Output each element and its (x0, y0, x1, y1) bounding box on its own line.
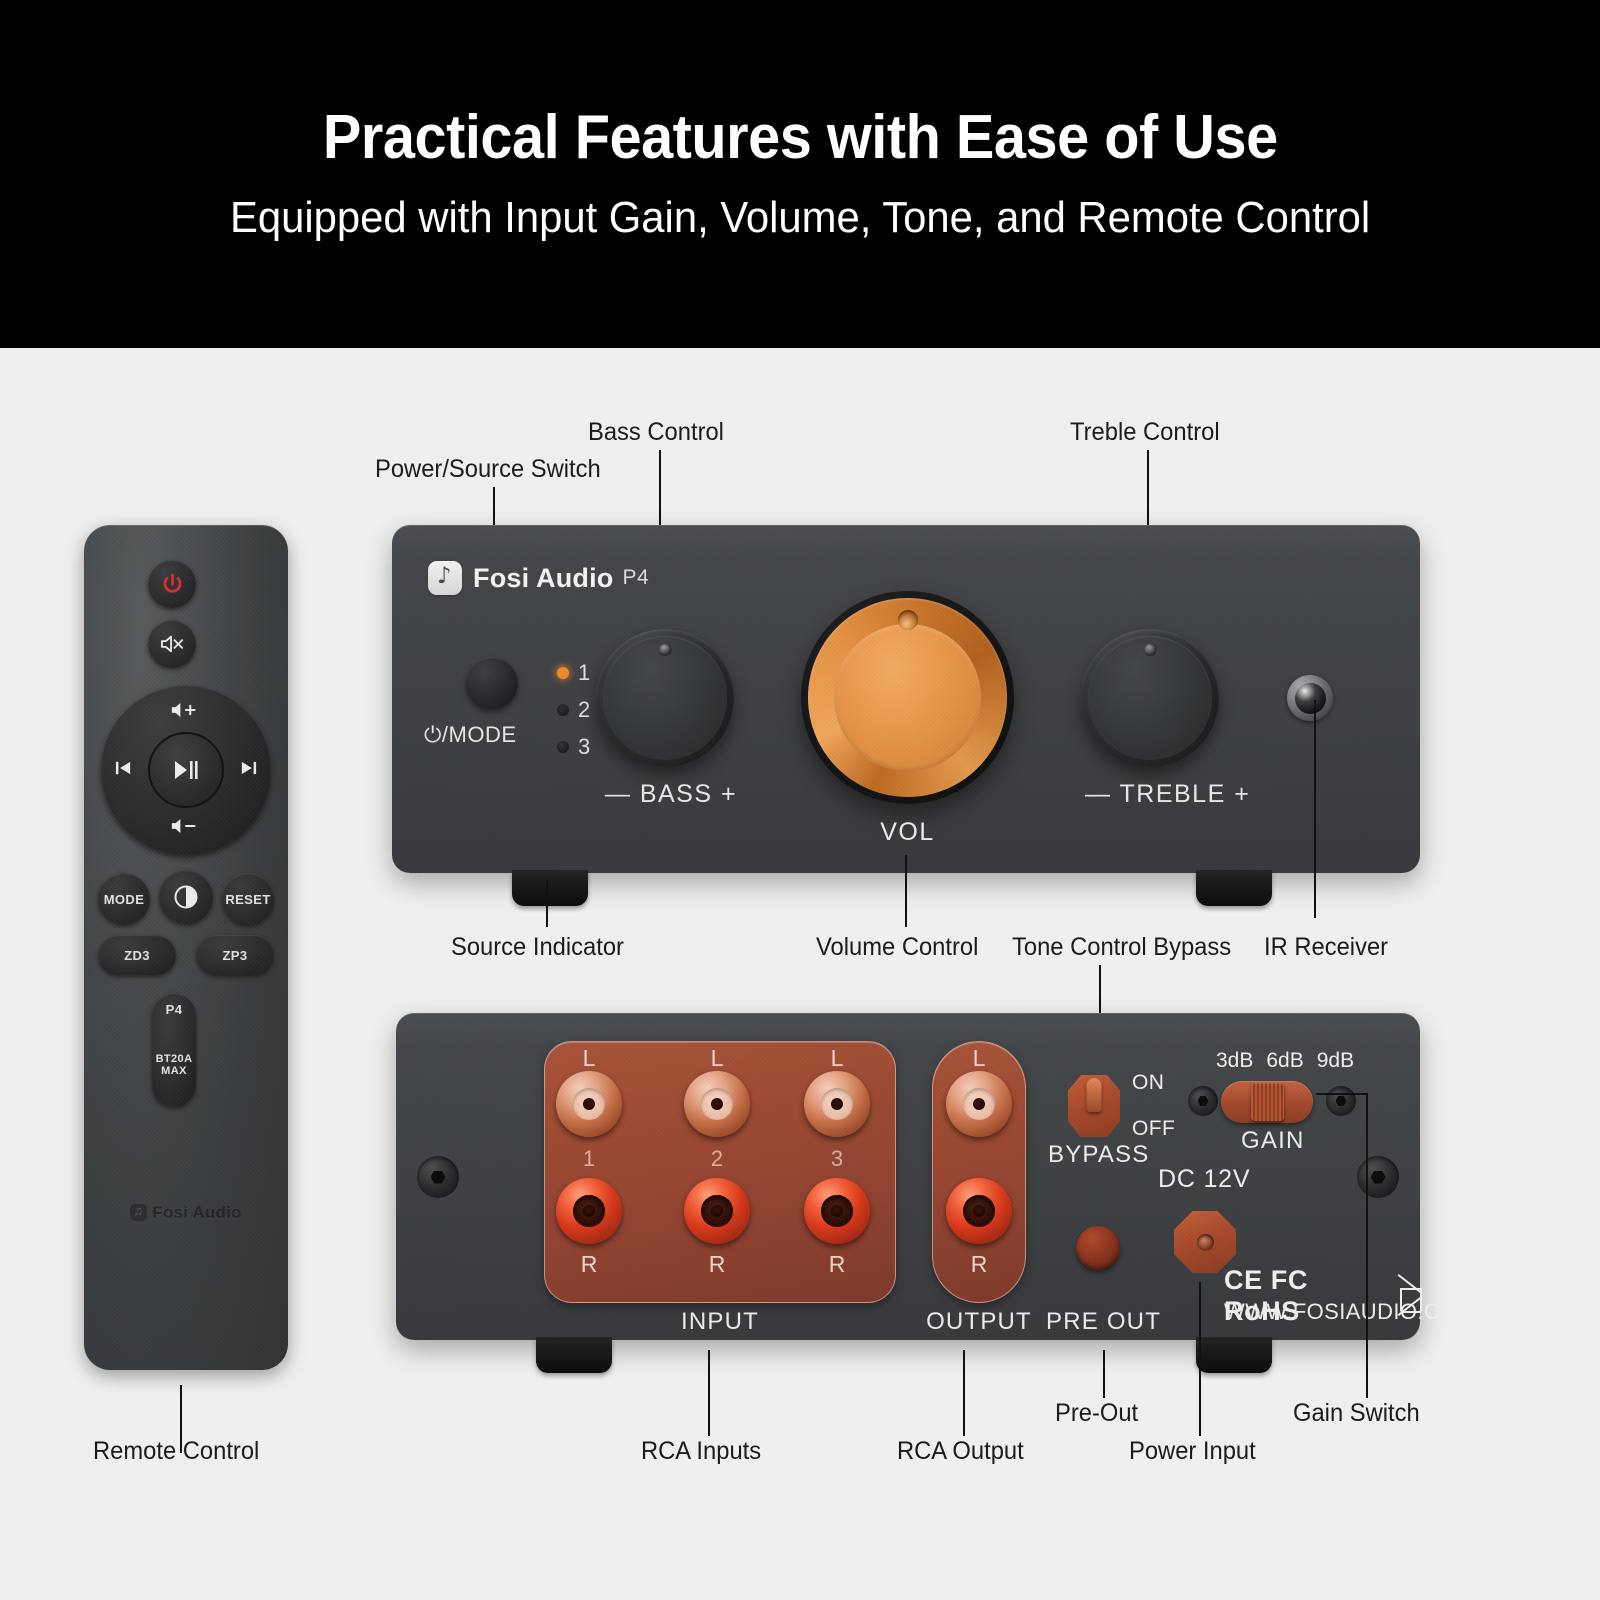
callout-pre-out: Pre-Out (1055, 1399, 1138, 1428)
volume-knob-face (834, 624, 981, 771)
rca-input-2-right[interactable] (684, 1178, 750, 1244)
contrast-circle-icon (173, 884, 199, 910)
bypass-switch-lever[interactable] (1087, 1078, 1102, 1112)
led-2 (557, 704, 569, 716)
website-url: WWW.FOSIAUDIO.COM (1224, 1299, 1476, 1325)
rca-hole (711, 1205, 724, 1218)
amplifier-front-panel: Fosi Audio P4 ⏻/MODE 1 2 3 — BASS + VOL … (392, 525, 1420, 873)
callout-remote-control: Remote Control (93, 1437, 259, 1466)
remote-reset-label: RESET (225, 892, 270, 907)
treble-knob[interactable] (1081, 629, 1219, 767)
remote-zp3-label: ZP3 (222, 948, 247, 963)
callout-gain-switch: Gain Switch (1293, 1399, 1420, 1428)
led-1-number: 1 (578, 660, 590, 686)
remote-zd3-label: ZD3 (124, 948, 150, 963)
bypass-switch[interactable] (1068, 1075, 1120, 1137)
header-band: Practical Features with Ease of Use Equi… (0, 0, 1600, 348)
remote-brand: Fosi Audio (84, 1203, 288, 1223)
rca-hole (973, 1205, 986, 1218)
power-source-button[interactable] (466, 657, 518, 709)
callout-ir-receiver: IR Receiver (1264, 933, 1388, 962)
remote-brand-label: Fosi Audio (152, 1203, 241, 1222)
input-2-r-tag: R (684, 1251, 750, 1278)
rca-inner-ring (701, 1088, 733, 1120)
chassis-screw-right-upper (1326, 1086, 1356, 1116)
next-track-icon[interactable] (239, 759, 258, 782)
pre-out-label: PRE OUT (1046, 1308, 1150, 1336)
remote-dpad[interactable] (101, 685, 271, 855)
pre-out-jack[interactable] (1076, 1226, 1120, 1270)
bypass-label: BYPASS (1048, 1141, 1144, 1169)
input-2-number: 2 (684, 1146, 750, 1172)
input-3-r-tag: R (804, 1251, 870, 1278)
remote-device-bt20a-label: BT20A (156, 1053, 193, 1065)
gain-switch-thumb[interactable] (1251, 1083, 1284, 1121)
input-3-number: 3 (804, 1146, 870, 1172)
rca-output-left[interactable] (946, 1071, 1012, 1137)
volume-down-icon[interactable] (170, 816, 202, 840)
chassis-screw-right (1357, 1156, 1399, 1198)
rca-inner-ring (573, 1195, 605, 1227)
callout-power-input: Power Input (1129, 1437, 1256, 1466)
rca-input-3-right[interactable] (804, 1178, 870, 1244)
callout-tone-control-bypass: Tone Control Bypass (1012, 933, 1231, 962)
music-note-icon (130, 1204, 147, 1221)
rca-hole (831, 1098, 844, 1111)
front-foot-left (512, 870, 588, 906)
bypass-on-label: ON (1132, 1071, 1164, 1095)
leader-ir-receiver (1314, 700, 1316, 918)
callout-rca-inputs: RCA Inputs (641, 1437, 761, 1466)
ir-receiver (1287, 675, 1333, 721)
remote-mode-button[interactable]: MODE (98, 873, 150, 925)
bass-knob-indicator-dot (659, 643, 672, 656)
front-brand-name: Fosi Audio (473, 563, 613, 594)
remote-device-p4-label: P4 (166, 1002, 183, 1017)
rca-input-3-left[interactable] (804, 1071, 870, 1137)
play-pause-icon (173, 759, 199, 781)
source-indicator-2: 2 (557, 697, 590, 723)
rca-input-1-left[interactable] (556, 1071, 622, 1137)
front-model-name: P4 (622, 566, 649, 590)
remote-zd3-button[interactable]: ZD3 (98, 935, 176, 975)
ir-receiver-dome-icon (1295, 683, 1326, 714)
power-icon (160, 572, 185, 597)
remote-reset-button[interactable]: RESET (222, 873, 274, 925)
music-note-icon (428, 561, 462, 595)
mute-speaker-icon (159, 632, 186, 656)
treble-label: — TREBLE + (1085, 780, 1223, 809)
volume-up-icon[interactable] (170, 700, 202, 724)
power-mode-label: ⏻/MODE (424, 722, 517, 748)
led-1 (557, 667, 569, 679)
led-3-number: 3 (578, 734, 590, 760)
callout-source-indicator: Source Indicator (451, 933, 624, 962)
gain-label: GAIN (1241, 1127, 1304, 1155)
chassis-screw-left (417, 1156, 459, 1198)
led-2-number: 2 (578, 697, 590, 723)
leader-gain-switch-horizontal (1316, 1093, 1368, 1095)
volume-knob[interactable] (801, 591, 1014, 804)
input-2-l-tag: L (684, 1045, 750, 1072)
callout-power-source-switch: Power/Source Switch (375, 455, 601, 484)
gain-tick-labels: 3dB 6dB 9dB (1216, 1049, 1354, 1073)
front-brand: Fosi Audio P4 (428, 561, 649, 595)
leader-gain-switch-vertical (1366, 1094, 1368, 1398)
remote-mute-button[interactable] (148, 620, 196, 668)
rca-input-2-left[interactable] (684, 1071, 750, 1137)
gain-switch[interactable] (1221, 1081, 1313, 1123)
input-label: INPUT (544, 1308, 896, 1336)
rca-output-right[interactable] (946, 1178, 1012, 1244)
bass-label: — BASS + (602, 780, 740, 809)
led-3 (557, 741, 569, 753)
dc-label: DC 12V (1158, 1165, 1250, 1194)
leader-rca-output (963, 1350, 965, 1436)
rca-hole (583, 1098, 596, 1111)
source-indicator-1: 1 (557, 660, 590, 686)
rca-hole (831, 1205, 844, 1218)
remote-play-pause-button[interactable] (148, 732, 224, 808)
rca-inner-ring (821, 1195, 853, 1227)
leader-source-indicator (546, 880, 548, 927)
volume-label: VOL (801, 818, 1014, 847)
remote-zp3-button[interactable]: ZP3 (196, 935, 274, 975)
leader-volume-control (905, 855, 907, 927)
bass-knob[interactable] (596, 629, 734, 767)
chassis-screw-center (1188, 1086, 1218, 1116)
leader-rca-inputs (708, 1350, 710, 1436)
input-1-number: 1 (556, 1146, 622, 1172)
rca-inner-ring (963, 1088, 995, 1120)
output-l-tag: L (946, 1045, 1012, 1072)
remote-mode-label: MODE (104, 892, 145, 907)
callout-treble-control: Treble Control (1070, 418, 1220, 447)
input-3-l-tag: L (804, 1045, 870, 1072)
rca-hole (973, 1098, 986, 1111)
rca-hole (583, 1205, 596, 1218)
treble-knob-indicator-dot (1144, 643, 1157, 656)
gain-option-9db[interactable]: 9dB (1317, 1049, 1354, 1073)
page-subtitle: Equipped with Input Gain, Volume, Tone, … (230, 193, 1370, 243)
previous-track-icon[interactable] (114, 759, 133, 782)
gain-option-3db[interactable]: 3dB (1216, 1049, 1253, 1073)
remote-tone-button[interactable] (159, 870, 213, 924)
gain-option-6db[interactable]: 6dB (1266, 1049, 1303, 1073)
front-foot-right (1196, 870, 1272, 906)
callout-volume-control: Volume Control (816, 933, 978, 962)
rca-inner-ring (963, 1195, 995, 1227)
output-r-tag: R (946, 1251, 1012, 1278)
remote-power-button[interactable] (148, 560, 196, 608)
input-1-r-tag: R (556, 1251, 622, 1278)
remote-control[interactable]: MODE RESET ZD3 ZP3 P4 BT20A MAX Fosi Aud… (84, 525, 288, 1370)
rca-inner-ring (701, 1195, 733, 1227)
leader-pre-out (1103, 1350, 1105, 1398)
rca-input-1-right[interactable] (556, 1178, 622, 1244)
callout-rca-output: RCA Output (897, 1437, 1024, 1466)
dc-power-jack[interactable] (1174, 1211, 1236, 1273)
callout-bass-control: Bass Control (588, 418, 724, 447)
rear-foot-right (1196, 1337, 1272, 1373)
page-title: Practical Features with Ease of Use (323, 105, 1278, 170)
output-label: OUTPUT (923, 1308, 1035, 1336)
rca-inner-ring (573, 1088, 605, 1120)
remote-device-max-label: MAX (161, 1065, 187, 1077)
rca-hole (711, 1098, 724, 1111)
leader-power-input (1199, 1282, 1201, 1436)
amplifier-rear-panel: L 1 R L 2 R L 3 R INPUT L R OUTPUT ON OF… (396, 1013, 1420, 1340)
rear-foot-left (536, 1337, 612, 1373)
rca-inner-ring (821, 1088, 853, 1120)
input-1-l-tag: L (556, 1045, 622, 1072)
volume-knob-indicator-dot (898, 610, 918, 630)
remote-device-select-button[interactable]: P4 BT20A MAX (152, 993, 196, 1107)
source-indicator-3: 3 (557, 734, 590, 760)
bypass-off-label: OFF (1132, 1117, 1175, 1141)
